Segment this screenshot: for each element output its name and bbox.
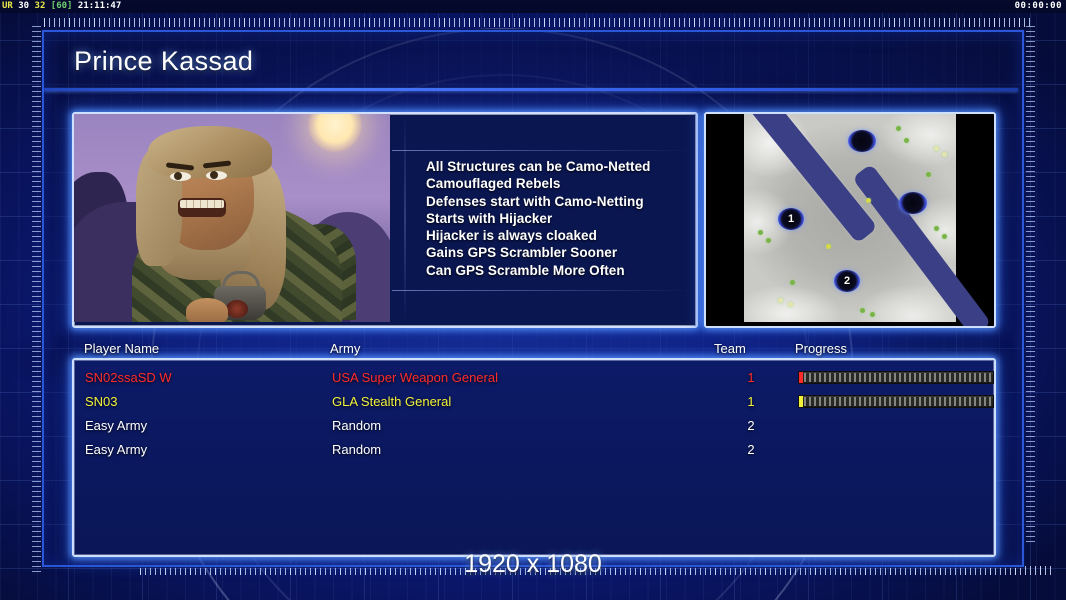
soldier-pupil-right <box>210 171 218 179</box>
map-resource <box>860 308 865 313</box>
map-resource <box>870 312 875 317</box>
player-progress-bar <box>798 371 994 384</box>
map-resource <box>896 126 901 131</box>
map-resource <box>790 280 795 285</box>
bonus-rule-bottom <box>392 290 692 291</box>
map-preview-panel: 1 2 <box>704 112 996 328</box>
player-name-cell: Easy Army <box>85 438 147 462</box>
bonus-item: All Structures can be Camo-Netted <box>426 158 650 175</box>
general-portrait <box>74 114 390 322</box>
player-name-cell: SN03 <box>85 390 118 414</box>
map-resource <box>934 226 939 231</box>
map-resource <box>778 298 783 303</box>
game-timer: 00:00:00 <box>1015 1 1062 12</box>
player-progress-bar <box>798 395 994 408</box>
bonus-rule-top <box>392 150 692 151</box>
map-start-position-2: 2 <box>834 270 860 292</box>
player-team-cell: 1 <box>739 366 763 390</box>
perf-value-b: 32 <box>35 1 46 11</box>
progress-fill <box>799 372 803 383</box>
player-row[interactable]: SN02ssaSD WUSA Super Weapon General1 <box>74 366 994 390</box>
general-bonus-list: All Structures can be Camo-Netted Camouf… <box>426 158 650 279</box>
bonus-item: Defenses start with Camo-Netting <box>426 193 650 210</box>
map-resource <box>934 146 939 151</box>
player-army-cell: GLA Stealth General <box>332 390 451 414</box>
map-resource <box>758 230 763 235</box>
player-row[interactable]: SN03GLA Stealth General1 <box>74 390 994 414</box>
map-resource <box>942 234 947 239</box>
bonus-item: Gains GPS Scrambler Sooner <box>426 244 650 261</box>
map-resource <box>904 138 909 143</box>
player-row[interactable]: Easy ArmyRandom2 <box>74 414 994 438</box>
ruler-left <box>32 26 41 574</box>
player-army-cell: USA Super Weapon General <box>332 366 498 390</box>
general-info-panel: All Structures can be Camo-Netted Camouf… <box>72 112 698 328</box>
perf-value-c: [60] <box>51 1 73 11</box>
bonus-item: Starts with Hijacker <box>426 210 650 227</box>
map-river-south <box>852 164 992 328</box>
ruler-top <box>44 18 1034 27</box>
player-name-cell: Easy Army <box>85 414 147 438</box>
player-team-cell: 2 <box>739 438 763 462</box>
resolution-label: 1920 x 1080 <box>0 550 1066 579</box>
map-start-position <box>899 192 927 214</box>
title-divider <box>44 88 1018 91</box>
map-resource <box>942 152 947 157</box>
map-start-position-1: 1 <box>778 208 804 230</box>
player-row[interactable]: Easy ArmyRandom2 <box>74 438 994 462</box>
bonus-item: Camouflaged Rebels <box>426 175 650 192</box>
top-status-bar: UR 30 32 [60] 21:11:47 00:00:00 <box>0 0 1066 13</box>
column-header-army: Army <box>330 341 360 356</box>
map-terrain: 1 2 <box>744 114 956 322</box>
sun-icon <box>308 114 362 152</box>
column-header-team: Team <box>714 341 746 356</box>
map-resource <box>788 302 793 307</box>
soldier-pupil-left <box>174 172 182 180</box>
player-army-cell: Random <box>332 414 381 438</box>
player-list-rows: SN02ssaSD WUSA Super Weapon General1SN03… <box>74 360 994 555</box>
player-army-cell: Random <box>332 438 381 462</box>
map-resource <box>766 238 771 243</box>
headwrap-top <box>148 126 272 178</box>
soldier-teeth <box>180 200 224 208</box>
column-header-player-name: Player Name <box>84 341 159 356</box>
bonus-item: Hijacker is always cloaked <box>426 227 650 244</box>
ruler-right <box>1026 26 1035 546</box>
column-header-progress: Progress <box>795 341 847 356</box>
lantern-glow <box>226 300 248 318</box>
bonus-item: Can GPS Scramble More Often <box>426 262 650 279</box>
soldier-mouth <box>178 198 226 217</box>
loading-screen: UR 30 32 [60] 21:11:47 00:00:00 Prince K… <box>0 0 1066 600</box>
soldier-hand <box>186 298 228 322</box>
player-team-cell: 1 <box>739 390 763 414</box>
map-resource <box>866 198 871 203</box>
map-resource <box>926 172 931 177</box>
player-team-cell: 2 <box>739 414 763 438</box>
player-name-cell: SN02ssaSD W <box>85 366 172 390</box>
map-letterbox: 1 2 <box>706 114 994 326</box>
perf-label: UR <box>2 1 13 11</box>
player-list-panel: SN02ssaSD WUSA Super Weapon General1SN03… <box>72 358 996 557</box>
page-title: Prince Kassad <box>74 46 253 77</box>
performance-readout: UR 30 32 [60] 21:11:47 <box>2 1 121 12</box>
map-start-position <box>848 130 876 152</box>
progress-track <box>804 397 992 406</box>
perf-value-a: 30 <box>18 1 29 11</box>
progress-track <box>804 373 992 382</box>
progress-fill <box>799 396 803 407</box>
system-clock: 21:11:47 <box>78 1 121 11</box>
map-resource <box>826 244 831 249</box>
